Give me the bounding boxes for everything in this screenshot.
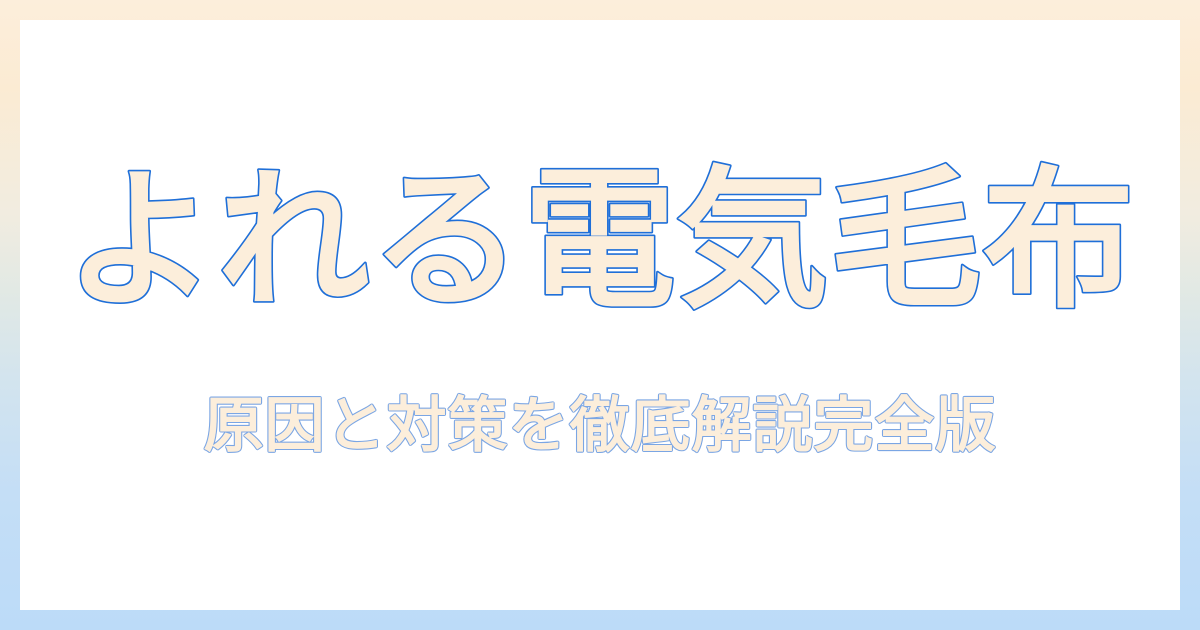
- title-container: よれる電気毛布: [20, 138, 1180, 348]
- subtitle-container: 原因と対策を徹底解説完全版: [20, 378, 1180, 478]
- subtitle-outlined-text: 原因と対策を徹底解説完全版: [150, 378, 1050, 478]
- page-subtitle: 原因と対策を徹底解説完全版: [204, 391, 997, 461]
- gradient-border-frame: よれる電気毛布 原因と対策を徹底解説完全版: [0, 0, 1200, 630]
- title-outlined-text: よれる電気毛布: [50, 138, 1150, 348]
- page-title: よれる電気毛布: [65, 152, 1136, 329]
- white-content-card: よれる電気毛布 原因と対策を徹底解説完全版: [20, 20, 1180, 610]
